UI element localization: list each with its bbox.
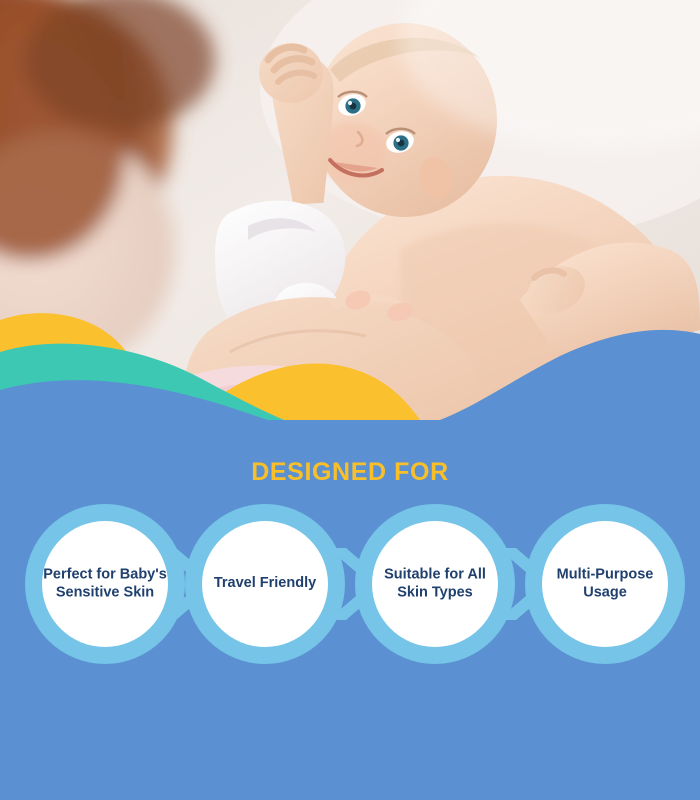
badge-row — [0, 500, 700, 680]
badge-fill-1 — [42, 521, 168, 647]
section-title: DESIGNED FOR — [0, 458, 700, 487]
badge-circles[interactable] — [25, 504, 685, 664]
designed-for-panel: DESIGNED FOR — [0, 420, 700, 800]
badge-fill-4 — [542, 521, 668, 647]
badge-fill-3 — [372, 521, 498, 647]
badge-fill-2 — [202, 521, 328, 647]
badge-shapes — [0, 500, 700, 680]
product-feature-poster: DESIGNED FOR — [0, 0, 700, 800]
